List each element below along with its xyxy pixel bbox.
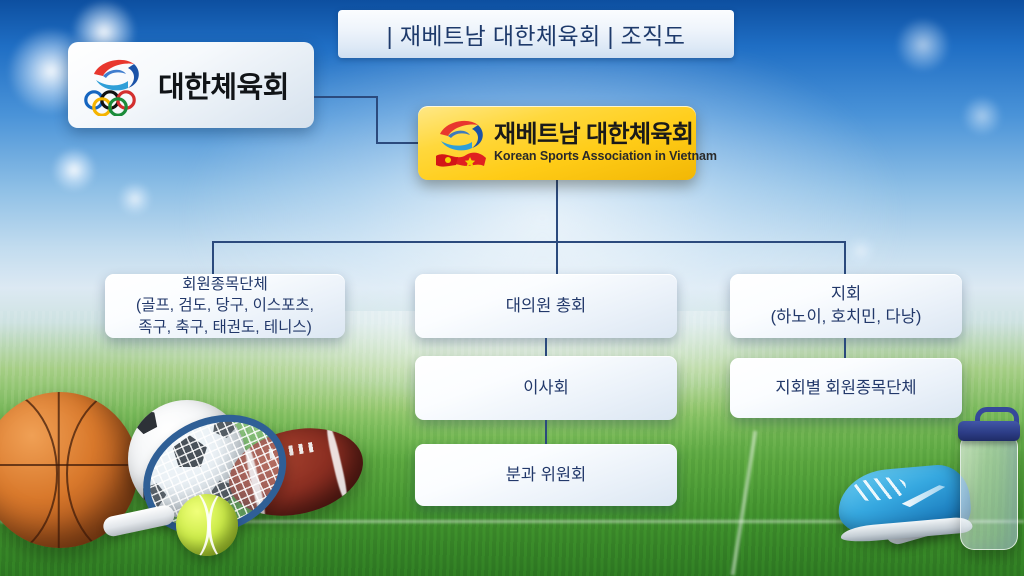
connector-root-down [556, 180, 558, 242]
node-label: 지회 (하노이, 호치민, 다낭) [771, 283, 922, 329]
connector-bus-to-left [212, 241, 214, 275]
stadium-light-bokeh [962, 96, 1002, 136]
slide-title-banner: | 재베트남 대한체육회 | 조직도 [338, 10, 734, 58]
connector-bus-to-right [844, 241, 846, 275]
root-name-korean: 재베트남 대한체육회 [494, 122, 717, 147]
root-organization-text: 재베트남 대한체육회 Korean Sports Association in … [494, 122, 717, 163]
stadium-light-bokeh [118, 182, 152, 216]
node-label: 분과 위원회 [506, 464, 586, 487]
running-shoe-object [835, 462, 972, 539]
node-label: 대의원 총회 [506, 295, 586, 318]
root-organization-node[interactable]: 재베트남 대한체육회 Korean Sports Association in … [418, 106, 696, 180]
water-bottle-object [960, 436, 1018, 550]
connector-right-1-to-2 [844, 338, 846, 360]
basketball-seam [0, 392, 58, 548]
stadium-light-bokeh [52, 148, 96, 192]
node-member-sport-organizations[interactable]: 회원종목단체 (골프, 검도, 당구, 이스포츠, 족구, 축구, 태권도, 테… [105, 274, 345, 338]
node-general-assembly[interactable]: 대의원 총회 [415, 274, 677, 338]
node-board-of-directors[interactable]: 이사회 [415, 356, 677, 420]
parent-organization-card: 대한체육회 [68, 42, 314, 128]
bottle-cap [958, 421, 1020, 441]
connector-branch-bus [212, 241, 846, 243]
ksav-flags-logo [432, 116, 488, 170]
root-name-english: Korean Sports Association in Vietnam [494, 149, 717, 164]
racket-handle [102, 504, 177, 539]
connector-bus-to-center [556, 241, 558, 275]
node-label: 지회별 회원종목단체 [775, 377, 916, 400]
node-label: 회원종목단체 (골프, 검도, 당구, 이스포츠, 족구, 축구, 태권도, 테… [136, 274, 314, 338]
connector-parent-to-root-h1 [314, 96, 378, 98]
connector-parent-to-root-v [376, 96, 378, 144]
tennis-ball-seam [176, 494, 210, 556]
connector-parent-to-root-h2 [376, 142, 420, 144]
stadium-light-bokeh [846, 236, 876, 266]
page-title: | 재베트남 대한체육회 | 조직도 [387, 17, 686, 51]
ksoc-olympic-rings-logo [84, 54, 150, 116]
node-branch-offices[interactable]: 지회 (하노이, 호치민, 다낭) [730, 274, 962, 338]
node-subcommittee[interactable]: 분과 위원회 [415, 444, 677, 506]
football-stripe [325, 426, 349, 500]
tennis-ball-seam [208, 494, 238, 556]
node-branch-member-sport-organizations[interactable]: 지회별 회원종목단체 [730, 358, 962, 418]
parent-organization-name: 대한체육회 [158, 64, 289, 106]
organization-chart-slide: | 재베트남 대한체육회 | 조직도 대한체육회 [0, 0, 1024, 576]
node-label: 이사회 [523, 377, 569, 400]
stadium-light-bokeh [896, 18, 950, 72]
tennis-ball-object [176, 494, 238, 556]
